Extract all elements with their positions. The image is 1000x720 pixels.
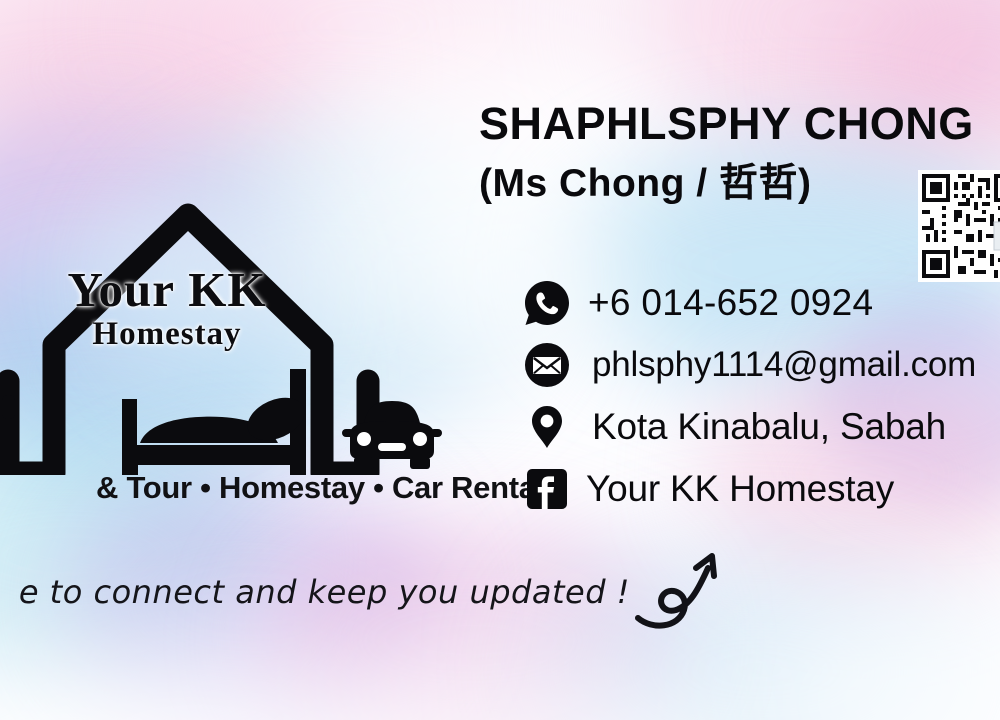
contact-row-location[interactable]: Kota Kinabalu, Sabah: [524, 396, 1000, 458]
bed-icon: [118, 367, 318, 477]
brand-wordmark: Your KK Homestay: [17, 265, 317, 351]
envelope-icon: [524, 342, 570, 388]
facebook-icon: [524, 466, 570, 512]
whatsapp-icon: [524, 280, 570, 326]
car-icon: [342, 393, 442, 471]
contact-list: +6 014-652 0924 phlsphy1114@gmail.com: [524, 272, 1000, 520]
brand-logo: Your KK Homestay: [0, 185, 460, 470]
location-text: Kota Kinabalu, Sabah: [592, 406, 946, 448]
alias-close: ): [798, 162, 812, 205]
person-alias: (Ms Chong / 哲哲): [479, 152, 811, 208]
van-icon: [0, 353, 38, 473]
person-name: SHAPHLSPHY CHONG: [479, 98, 974, 150]
services-tagline: & Tour • Homestay • Car Rental: [0, 470, 544, 506]
email-address: phlsphy1114@gmail.com: [592, 345, 976, 385]
curly-arrow-icon: [634, 548, 730, 630]
whatsapp-number: +6 014-652 0924: [588, 282, 873, 324]
alias-chinese: 哲哲: [719, 161, 798, 206]
location-pin-icon: [524, 404, 570, 450]
contact-row-email[interactable]: phlsphy1114@gmail.com: [524, 334, 1000, 396]
brand-line-1: Your KK: [17, 265, 317, 314]
business-card: Your KK Homestay: [0, 0, 1000, 720]
contact-row-facebook[interactable]: Your KK Homestay: [524, 458, 1000, 520]
qr-code[interactable]: [918, 170, 1000, 282]
alias-open: (Ms Chong /: [479, 162, 719, 205]
handwritten-note: e to connect and keep you updated !: [0, 573, 630, 611]
facebook-page: Your KK Homestay: [586, 468, 894, 510]
brand-line-2: Homestay: [17, 318, 317, 351]
